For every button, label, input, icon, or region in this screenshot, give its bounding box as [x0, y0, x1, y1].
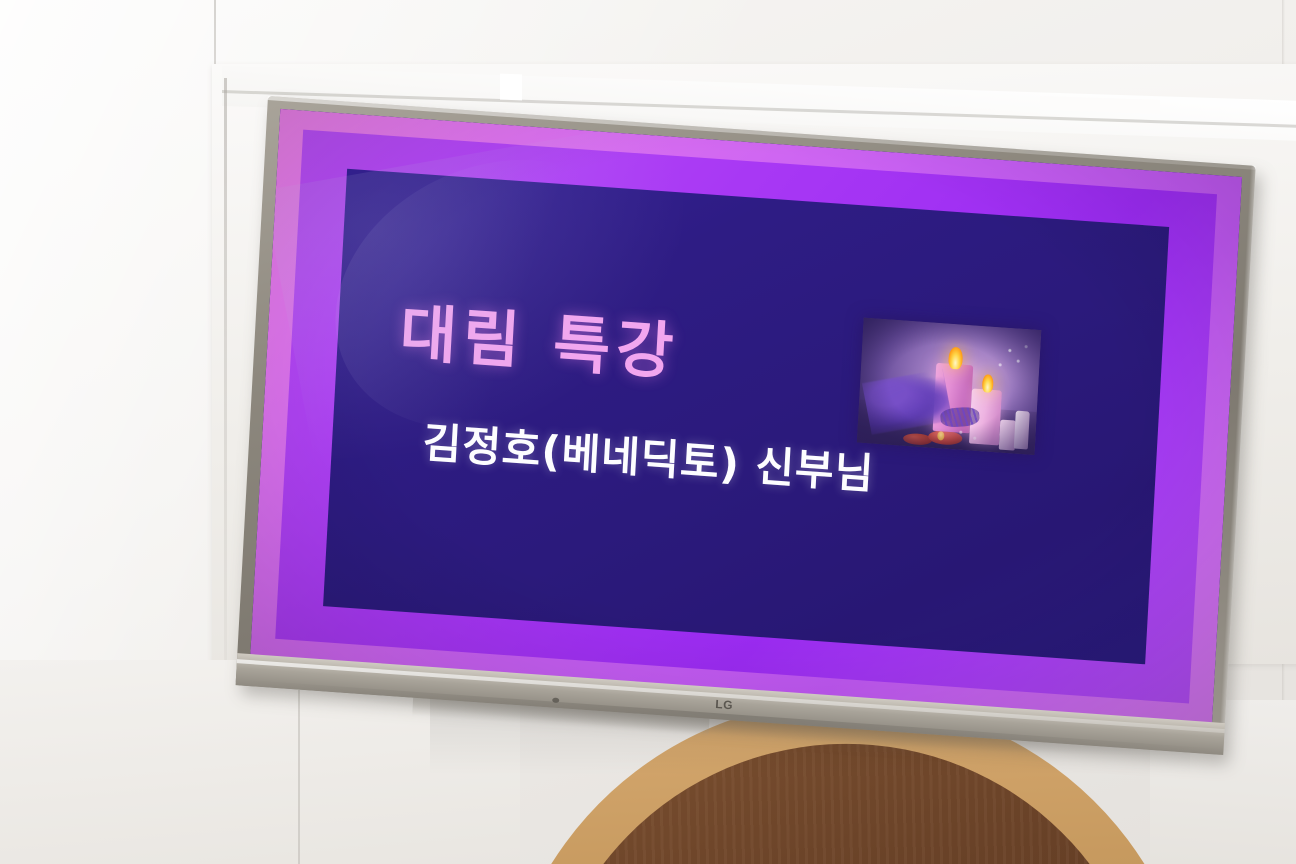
lg-brand-logo: LG: [715, 697, 733, 712]
wall-panel-left-edge: [224, 78, 227, 668]
television[interactable]: 대림 특강 김정호(베네딕토) 신부님: [236, 96, 1256, 755]
tv-screen[interactable]: 대림 특강 김정호(베네딕토) 신부님: [250, 109, 1242, 724]
slide-content-area: 대림 특강 김정호(베네딕토) 신부님: [323, 169, 1169, 665]
candle-photo: [857, 317, 1041, 454]
photo-vignette: [857, 317, 1041, 454]
slide-title: 대림 특강: [398, 302, 829, 394]
photo-scene: 대림 특강 김정호(베네딕토) 신부님: [0, 0, 1296, 864]
slide-frame-inner-band: 대림 특강 김정호(베네딕토) 신부님: [275, 130, 1217, 704]
presentation-slide: 대림 특강 김정호(베네딕토) 신부님: [250, 109, 1242, 724]
wall-panel-notch: [500, 74, 522, 101]
lower-wall-seam: [298, 690, 300, 864]
